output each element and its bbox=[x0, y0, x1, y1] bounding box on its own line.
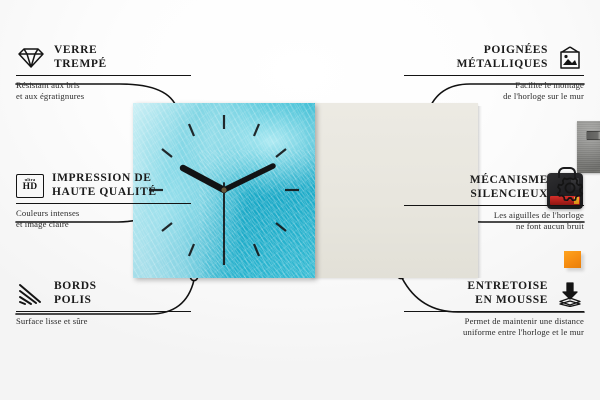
callout-description: Les aiguilles de l'horloge ne font aucun… bbox=[404, 210, 584, 233]
hour-marker-10 bbox=[162, 149, 172, 157]
divider bbox=[16, 75, 191, 76]
hour-marker-7 bbox=[189, 244, 194, 256]
infographic-stage: VERRE TREMPÉ Résistant aux bris et aux é… bbox=[0, 0, 600, 400]
callout-entretoise-en-mousse: ENTRETOISE EN MOUSSE Permet de maintenir… bbox=[404, 280, 584, 339]
hour-marker-1 bbox=[254, 124, 259, 136]
minute-hand bbox=[224, 166, 273, 190]
divider bbox=[404, 75, 584, 76]
callout-description: Permet de maintenir une distance uniform… bbox=[404, 316, 584, 339]
hour-marker-11 bbox=[189, 124, 194, 136]
divider bbox=[404, 311, 584, 312]
divider bbox=[16, 203, 191, 204]
handle-slot bbox=[586, 131, 600, 140]
foam-spacer bbox=[564, 251, 581, 268]
callout-title: MÉCANISME SILENCIEUX bbox=[470, 174, 548, 201]
ultra-hd-badge-icon: ultra HD bbox=[16, 174, 44, 198]
callout-description: Surface lisse et sûre bbox=[16, 316, 191, 327]
callout-description: Facilite le montage de l'horloge sur le … bbox=[404, 80, 584, 103]
callout-bords-polis: BORDS POLIS Surface lisse et sûre bbox=[16, 280, 191, 327]
down-arrow-layers-icon bbox=[556, 281, 584, 307]
callout-poignees-metalliques: POIGNÉES MÉTALLIQUES Facilite le montage… bbox=[404, 44, 584, 103]
hour-marker-2 bbox=[276, 149, 286, 157]
callout-title: BORDS POLIS bbox=[54, 280, 97, 307]
metal-handle-plate bbox=[577, 121, 600, 173]
callout-title: POIGNÉES MÉTALLIQUES bbox=[457, 44, 548, 71]
hour-marker-5 bbox=[254, 244, 259, 256]
wall-mount-frame-icon bbox=[556, 45, 584, 71]
callout-title: ENTRETOISE EN MOUSSE bbox=[467, 280, 548, 307]
callout-description: Couleurs intenses et image claire bbox=[16, 208, 191, 231]
divider bbox=[16, 311, 191, 312]
diamond-icon bbox=[16, 46, 46, 70]
divider bbox=[404, 205, 584, 206]
callout-title: VERRE TREMPÉ bbox=[54, 44, 107, 71]
callout-impression-haute-qualite: ultra HD IMPRESSION DE HAUTE QUALITÉ Cou… bbox=[16, 172, 191, 231]
clock-center-cap bbox=[221, 187, 226, 192]
callout-verre-trempe: VERRE TREMPÉ Résistant aux bris et aux é… bbox=[16, 44, 191, 103]
callout-description: Résistant aux bris et aux égratignures bbox=[16, 80, 191, 103]
polished-edges-icon bbox=[16, 282, 46, 306]
hour-marker-4 bbox=[276, 223, 286, 231]
callout-mecanisme-silencieux: MÉCANISME SILENCIEUX Les aiguilles de l'… bbox=[404, 174, 584, 233]
gear-icon bbox=[556, 175, 584, 201]
callout-title: IMPRESSION DE HAUTE QUALITÉ bbox=[52, 172, 157, 199]
